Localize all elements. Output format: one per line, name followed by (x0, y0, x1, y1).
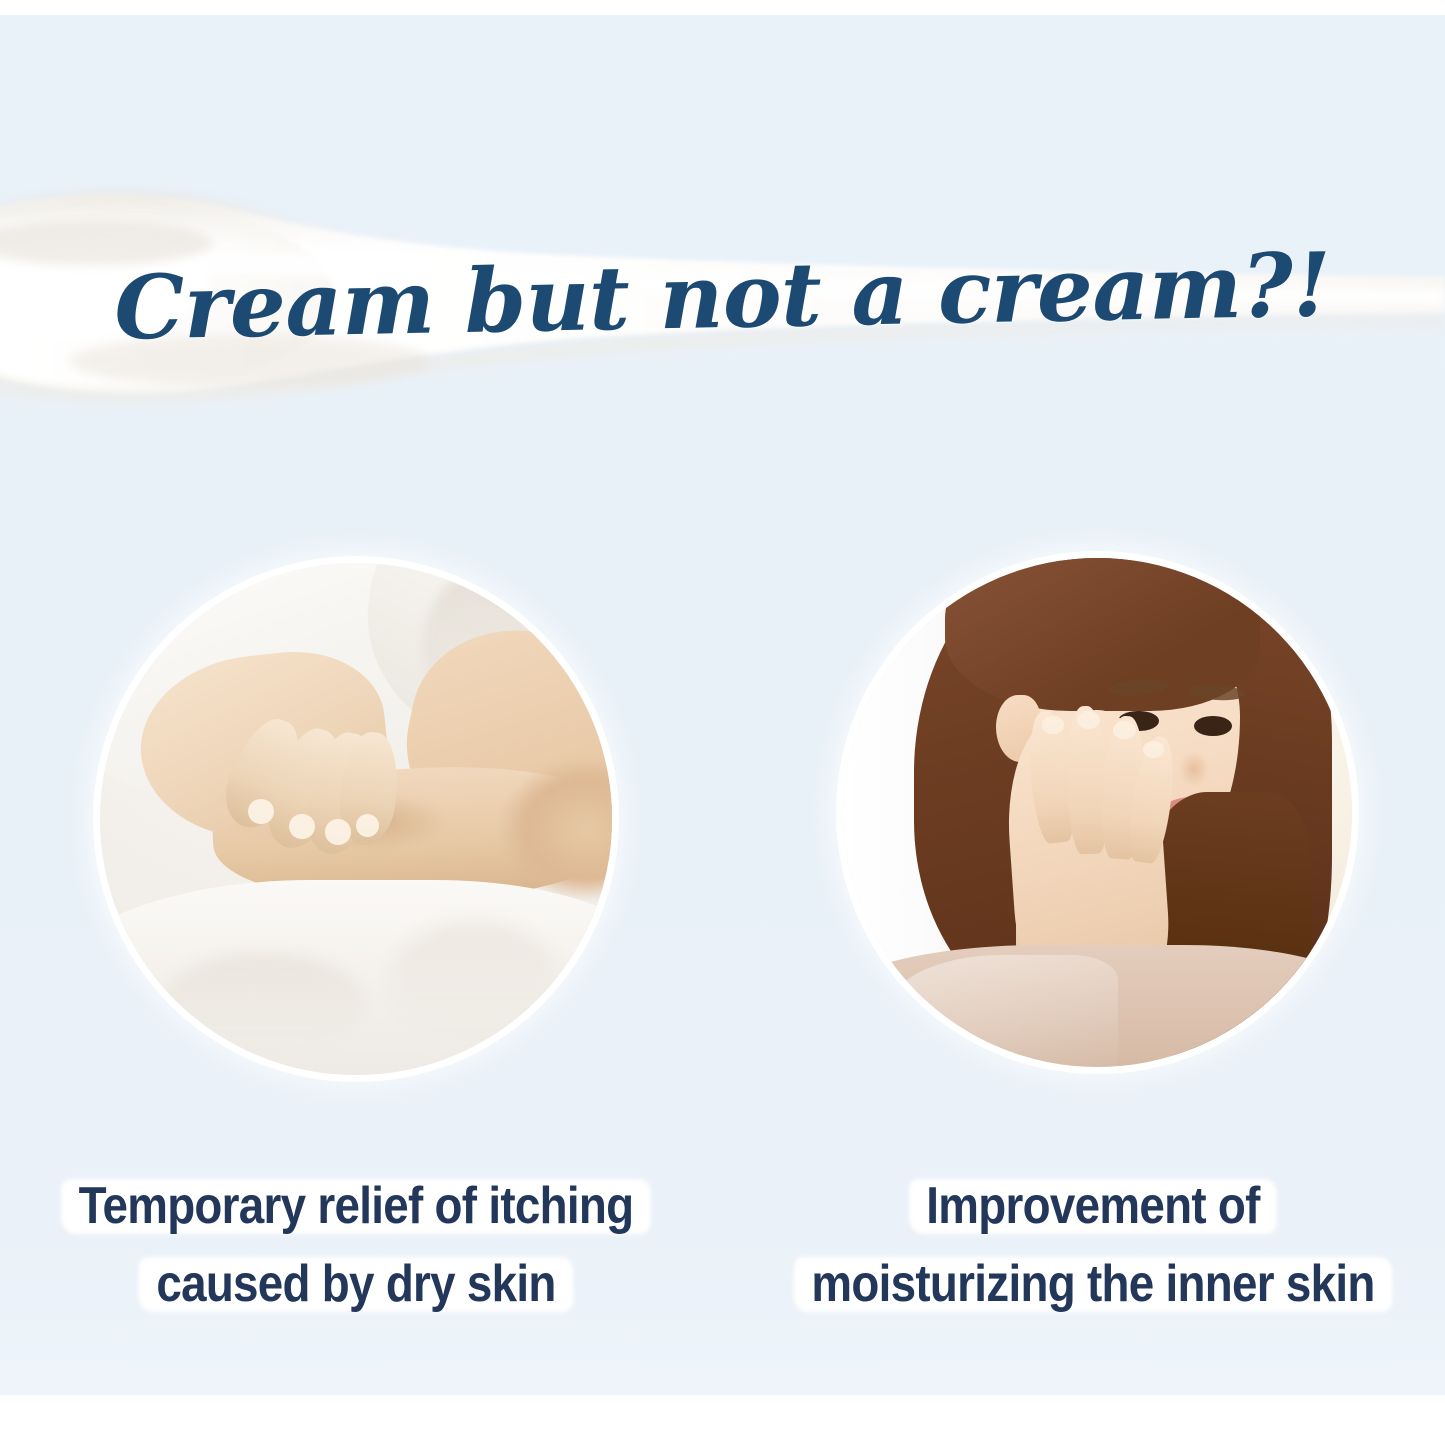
caption-line: Temporary relief of itching (65, 1168, 648, 1246)
photo-woman-touching-cheek (843, 558, 1352, 1067)
caption-line: Improvement of (912, 1168, 1274, 1246)
caption-line-text: Temporary relief of itching (79, 1177, 634, 1235)
caption-line-text: moisturizing the inner skin (811, 1255, 1374, 1313)
caption-line: moisturizing the inner skin (797, 1246, 1388, 1324)
photo-scratching-arm-image (100, 563, 612, 1075)
caption-moisturizing: Improvement of moisturizing the inner sk… (789, 1168, 1396, 1324)
photo-woman-touching-cheek-image (843, 558, 1352, 1067)
caption-itching-relief: Temporary relief of itching caused by dr… (59, 1168, 654, 1324)
bottom-white-strip (0, 1395, 1445, 1445)
top-white-strip (0, 0, 1445, 15)
photo-scratching-arm (100, 563, 612, 1075)
page-headline: Cream but not a cream?! (0, 238, 1445, 354)
product-detail-page: Cream but not a cream?! (0, 0, 1445, 1445)
caption-line-text: Improvement of (926, 1177, 1259, 1235)
caption-line: caused by dry skin (142, 1246, 570, 1324)
caption-line-text: caused by dry skin (156, 1255, 555, 1313)
